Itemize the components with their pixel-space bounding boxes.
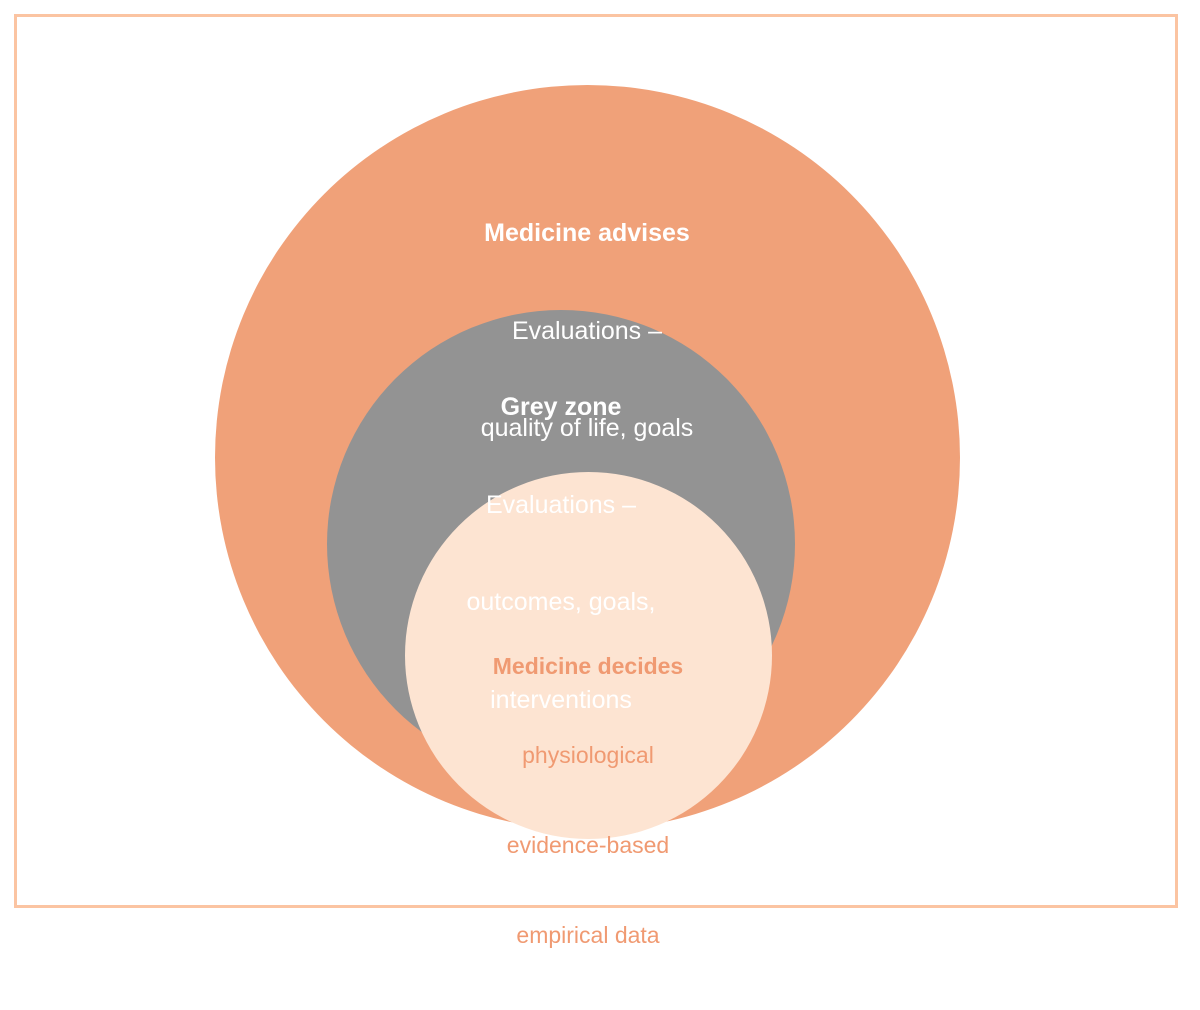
label-medicine-decides: Medicine decides physiological evidence-…: [418, 592, 758, 1010]
label-grey-zone-title: Grey zone: [341, 391, 781, 424]
label-medicine-decides-line-3: empirical data: [418, 921, 758, 951]
label-medicine-decides-line-2: evidence-based: [418, 831, 758, 861]
diagram-canvas: Medicine advises Evaluations – quality o…: [0, 0, 1200, 930]
label-medicine-advises-title: Medicine advises: [287, 217, 887, 250]
label-grey-zone-line-1: Evaluations –: [341, 489, 781, 522]
label-medicine-decides-line-1: physiological: [418, 741, 758, 771]
diagram-page: Medicine advises Evaluations – quality o…: [0, 0, 1200, 930]
label-medicine-decides-title: Medicine decides: [418, 652, 758, 682]
